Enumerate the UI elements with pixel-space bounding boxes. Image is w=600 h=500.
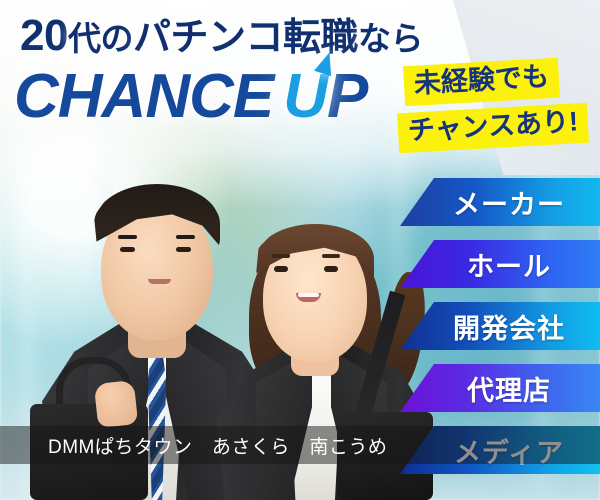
logo-up-u: U <box>283 62 327 131</box>
woman-eye-left <box>274 266 288 272</box>
headline-number: 20 <box>20 11 68 60</box>
man-eyebrow-right <box>176 235 195 239</box>
headline: 20代のパチンコ転職なら <box>20 14 440 58</box>
caption-text: DMMぱちタウン あさくら 南こうめ <box>0 426 600 464</box>
promo-banner: 20代のパチンコ転職なら CHANCEUP 未経験でも チャンスあり! メーカー… <box>0 0 600 500</box>
logo-chance-text: CHANCE <box>14 62 273 131</box>
chance-up-logo: CHANCEUP <box>14 66 367 128</box>
man-mouth <box>148 279 171 284</box>
man-hand <box>94 380 138 428</box>
woman-teeth <box>298 293 319 297</box>
category-button-agency[interactable]: 代理店 <box>400 364 600 412</box>
logo-up-p: P <box>327 62 367 131</box>
category-button-development[interactable]: 開発会社 <box>400 302 600 350</box>
category-button-maker[interactable]: メーカー <box>400 178 600 226</box>
man-eye-left <box>120 247 135 252</box>
woman-eye-right <box>324 266 338 272</box>
man-eye-right <box>176 247 191 252</box>
headline-tail: なら <box>358 20 423 57</box>
woman-eyebrow-right <box>322 254 340 258</box>
woman-eyebrow-left <box>272 254 290 258</box>
man-eyebrow-left <box>118 235 137 239</box>
category-button-hall[interactable]: ホール <box>400 240 600 288</box>
headline-mid: 代の <box>68 20 133 57</box>
